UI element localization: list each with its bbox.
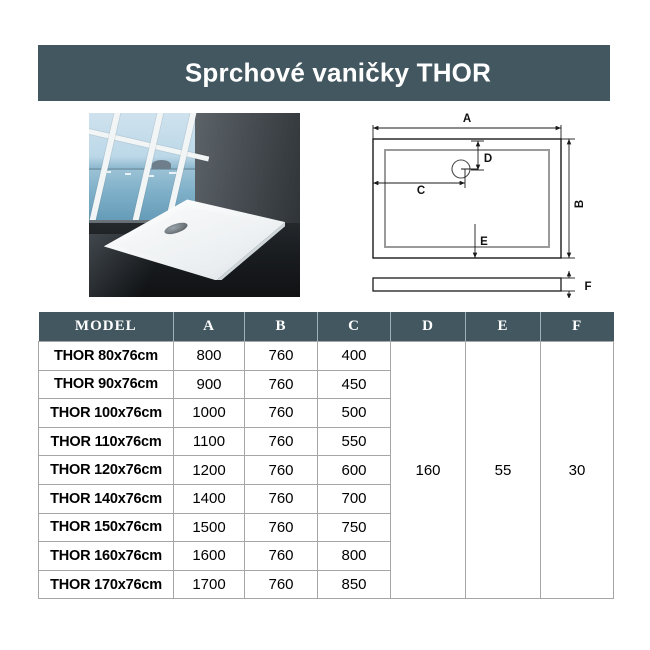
column-header-c: C — [318, 312, 391, 342]
cell-b: 760 — [245, 427, 318, 456]
dimension-a — [373, 125, 561, 139]
cell-c: 800 — [318, 542, 391, 571]
cell-model: THOR 110x76cm — [39, 427, 174, 456]
cell-b: 760 — [245, 513, 318, 542]
column-header-e: E — [466, 312, 541, 342]
cell-c: 500 — [318, 399, 391, 428]
cell-c: 450 — [318, 370, 391, 399]
cell-a: 1400 — [174, 484, 245, 513]
technical-drawing: A B C D E F — [358, 112, 612, 298]
column-header-d: D — [391, 312, 466, 342]
label-b: B — [574, 200, 586, 208]
shower-tray-photo — [89, 113, 300, 297]
page-title: Sprchové vaničky THOR — [38, 58, 610, 89]
cell-c: 600 — [318, 456, 391, 485]
tray-object — [104, 199, 285, 280]
cell-a: 800 — [174, 342, 245, 371]
label-f: F — [584, 281, 591, 293]
page-title-banner: Sprchové vaničky THOR — [38, 45, 610, 101]
column-header-a: A — [174, 312, 245, 342]
cell-a: 900 — [174, 370, 245, 399]
cell-model: THOR 140x76cm — [39, 484, 174, 513]
island-shape — [152, 160, 171, 169]
table-header-row: MODEL A B C D E F — [39, 312, 614, 342]
cell-a: 1100 — [174, 427, 245, 456]
label-e: E — [480, 236, 488, 248]
cell-c: 750 — [318, 513, 391, 542]
column-header-model: MODEL — [39, 312, 174, 342]
specification-table: MODEL A B C D E F THOR 80x76cm 800 760 4… — [38, 312, 614, 599]
cell-c: 400 — [318, 342, 391, 371]
boat-mark — [125, 173, 131, 175]
cell-b: 760 — [245, 542, 318, 571]
cell-d-merged: 160 — [391, 342, 466, 599]
cell-c: 550 — [318, 427, 391, 456]
dimension-b — [561, 139, 575, 258]
cell-a: 1700 — [174, 570, 245, 599]
label-a: A — [463, 113, 471, 125]
column-header-f: F — [541, 312, 614, 342]
cell-c: 700 — [318, 484, 391, 513]
cell-model: THOR 160x76cm — [39, 542, 174, 571]
label-c: C — [417, 185, 425, 197]
cell-b: 760 — [245, 456, 318, 485]
cell-b: 760 — [245, 342, 318, 371]
cell-a: 1500 — [174, 513, 245, 542]
cell-b: 760 — [245, 370, 318, 399]
cell-model: THOR 100x76cm — [39, 399, 174, 428]
tray-side-profile — [373, 278, 561, 291]
label-d: D — [484, 153, 492, 165]
cell-model: THOR 80x76cm — [39, 342, 174, 371]
cell-c: 850 — [318, 570, 391, 599]
cell-b: 760 — [245, 399, 318, 428]
cell-b: 760 — [245, 484, 318, 513]
cell-a: 1000 — [174, 399, 245, 428]
table-row: THOR 80x76cm 800 760 400 160 55 30 — [39, 342, 614, 371]
dimension-f — [561, 271, 575, 298]
cell-model: THOR 170x76cm — [39, 570, 174, 599]
cell-a: 1200 — [174, 456, 245, 485]
cell-model: THOR 90x76cm — [39, 370, 174, 399]
cell-b: 760 — [245, 570, 318, 599]
cell-e-merged: 55 — [466, 342, 541, 599]
cell-model: THOR 120x76cm — [39, 456, 174, 485]
cell-model: THOR 150x76cm — [39, 513, 174, 542]
cell-a: 1600 — [174, 542, 245, 571]
cell-f-merged: 30 — [541, 342, 614, 599]
column-header-b: B — [245, 312, 318, 342]
